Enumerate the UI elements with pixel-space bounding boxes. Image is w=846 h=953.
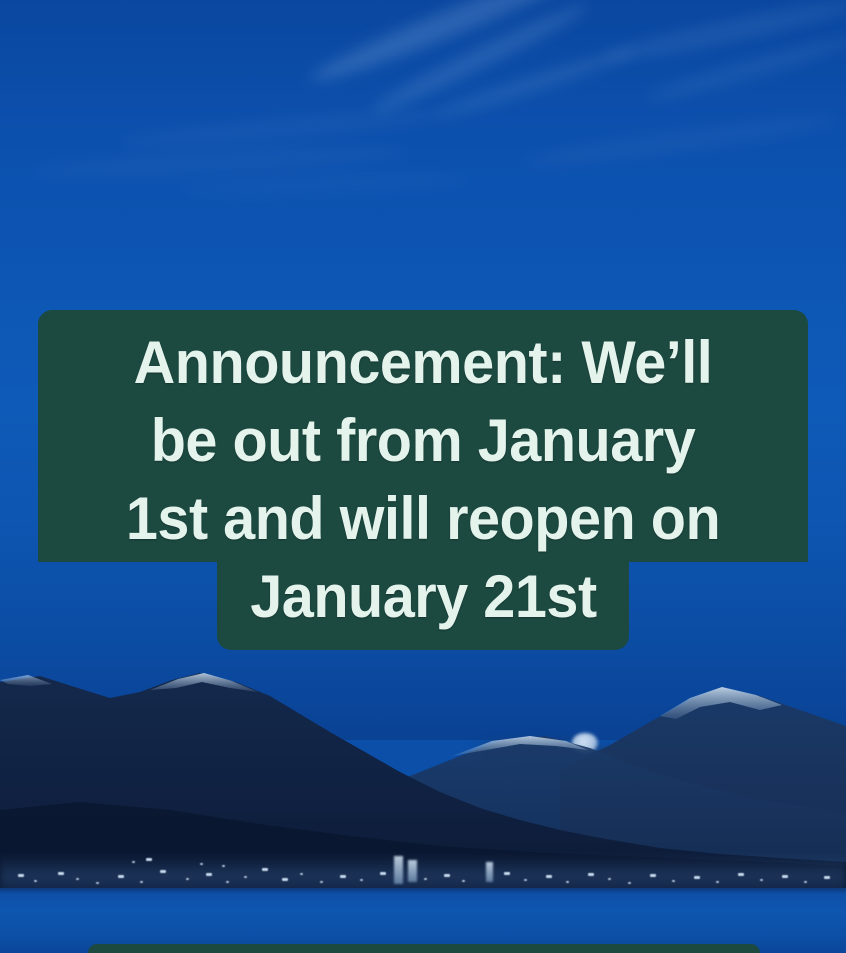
cirrus-cloud-icon [520,108,840,174]
cirrus-cloud-icon [120,104,450,153]
building-icon [486,862,493,882]
caption-line-4: January 21st [250,560,596,634]
building-icon [394,856,403,884]
cirrus-cloud-icon [180,170,470,198]
caption-tail-block: January 21st [217,560,630,650]
announcement-caption: Announcement: We’ll be out from January … [38,310,808,650]
caption-line-3: 1st and will reopen on [53,480,792,558]
caption-line-1: Announcement: We’ll [53,324,792,402]
announcement-image: Announcement: We’ll be out from January … [0,0,846,953]
caption-main-block: Announcement: We’ll be out from January … [38,310,808,562]
building-icon [408,860,417,882]
caption-tail-wrapper: January 21st [38,562,808,650]
caption-line-2: be out from January [53,402,792,480]
bottom-caption-strip [88,944,760,953]
